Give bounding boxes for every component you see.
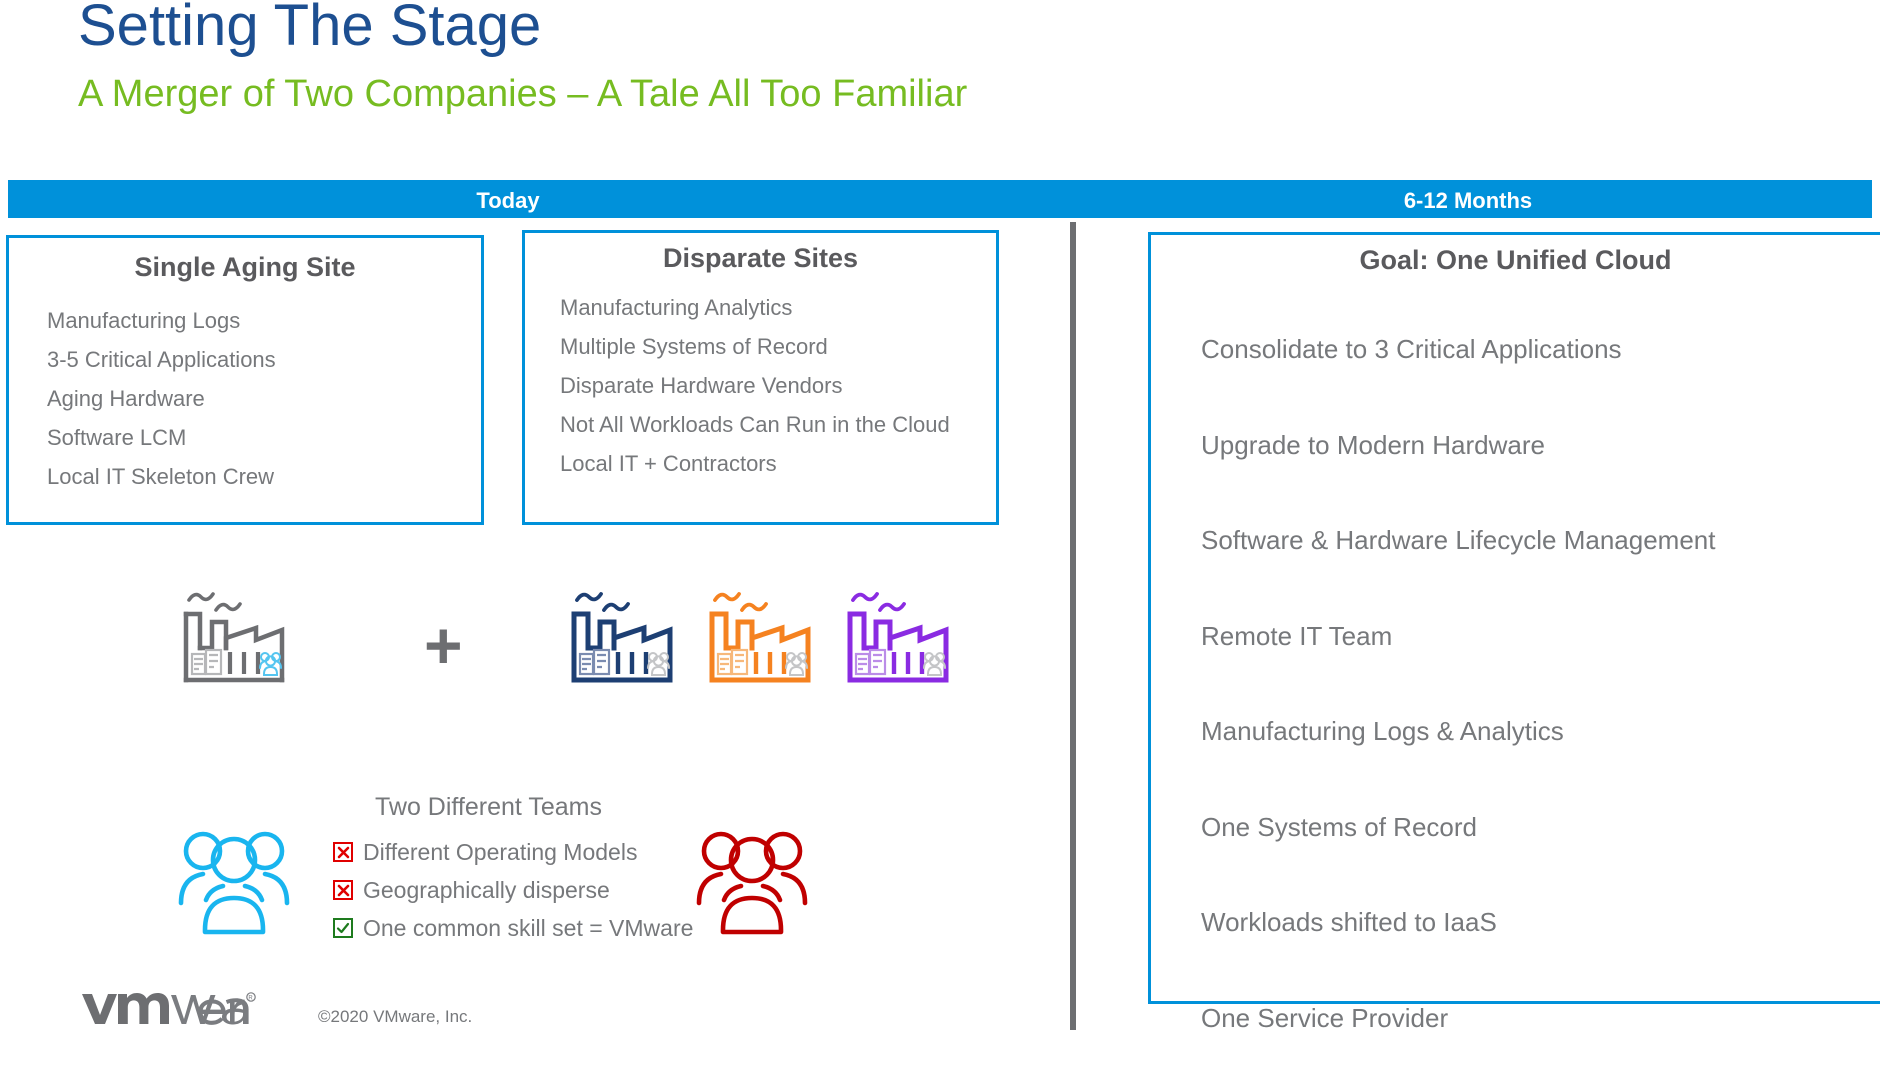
- list-item: Manufacturing Analytics: [560, 288, 996, 327]
- card-single-aging-site: Single Aging Site Manufacturing Logs 3-5…: [6, 235, 484, 525]
- checkbox-check-icon: [333, 918, 353, 938]
- banner-label-months: 6-12 Months: [1068, 188, 1868, 214]
- teams-bullet-list: Different Operating Models Geographicall…: [333, 833, 693, 947]
- banner-label-today: Today: [8, 188, 1008, 214]
- card-goal-unified-cloud: Goal: One Unified Cloud Consolidate to 3…: [1148, 232, 1880, 1004]
- list-item: Local IT Skeleton Crew: [47, 457, 481, 496]
- checkbox-x-icon: [333, 842, 353, 862]
- list-item: Manufacturing Logs & Analytics: [1201, 684, 1880, 780]
- card-title-goal: Goal: One Unified Cloud: [1151, 245, 1880, 276]
- people-group-icon-red: [693, 828, 811, 943]
- list-item-label: Geographically disperse: [363, 877, 610, 904]
- list-item: Different Operating Models: [333, 833, 693, 871]
- list-item: Remote IT Team: [1201, 589, 1880, 685]
- list-item: 3-5 Critical Applications: [47, 340, 481, 379]
- checkbox-x-icon: [333, 880, 353, 900]
- list-item: Workloads shifted to IaaS: [1201, 875, 1880, 971]
- list-item-label: One common skill set = VMware: [363, 915, 693, 942]
- timeline-banner: Today 6-12 Months: [8, 180, 1872, 218]
- card-list-goal: Consolidate to 3 Critical Applications U…: [1201, 302, 1880, 1066]
- factory-icon-company-orange: [698, 578, 813, 693]
- list-item: One Systems of Record: [1201, 780, 1880, 876]
- list-item: Local IT + Contractors: [560, 444, 996, 483]
- card-disparate-sites: Disparate Sites Manufacturing Analytics …: [522, 230, 999, 525]
- card-list-single-aging-site: Manufacturing Logs 3-5 Critical Applicat…: [47, 301, 481, 496]
- factory-icon-company-purple: [836, 578, 951, 693]
- title-block: Setting The Stage A Merger of Two Compan…: [78, 0, 967, 116]
- factory-icon-legacy: [172, 578, 287, 693]
- list-item: Aging Hardware: [47, 379, 481, 418]
- list-item: Multiple Systems of Record: [560, 327, 996, 366]
- people-group-icon-cyan: [175, 828, 293, 943]
- list-item: Manufacturing Logs: [47, 301, 481, 340]
- list-item: Software LCM: [47, 418, 481, 457]
- list-item: Geographically disperse: [333, 871, 693, 909]
- list-item: One common skill set = VMware: [333, 909, 693, 947]
- column-divider: [1070, 222, 1076, 1030]
- vmware-logo: R: [78, 982, 278, 1037]
- card-title-disparate-sites: Disparate Sites: [525, 243, 996, 274]
- plus-icon: +: [424, 612, 463, 678]
- factory-icon-company-navy: [560, 578, 675, 693]
- list-item: One Service Provider: [1201, 971, 1880, 1066]
- list-item: Software & Hardware Lifecycle Management: [1201, 493, 1880, 589]
- svg-text:R: R: [248, 996, 253, 1002]
- list-item: Consolidate to 3 Critical Applications: [1201, 302, 1880, 398]
- list-item: Disparate Hardware Vendors: [560, 366, 996, 405]
- page-subtitle: A Merger of Two Companies – A Tale All T…: [78, 73, 967, 116]
- card-list-disparate-sites: Manufacturing Analytics Multiple Systems…: [560, 288, 996, 483]
- teams-section-title: Two Different Teams: [375, 793, 602, 822]
- card-title-single-aging-site: Single Aging Site: [9, 252, 481, 283]
- list-item: Upgrade to Modern Hardware: [1201, 398, 1880, 494]
- copyright-text: ©2020 VMware, Inc.: [318, 1007, 472, 1027]
- list-item: Not All Workloads Can Run in the Cloud: [560, 405, 996, 444]
- page-title: Setting The Stage: [78, 0, 967, 57]
- list-item-label: Different Operating Models: [363, 839, 637, 866]
